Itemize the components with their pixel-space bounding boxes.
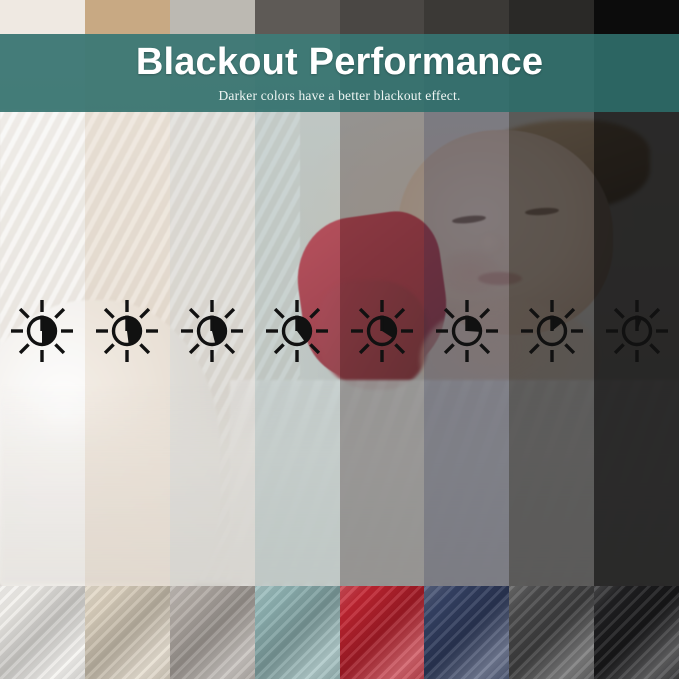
banner-title: Blackout Performance [136,43,543,81]
fabric-texture [594,586,679,679]
fabric-texture [170,586,255,679]
brightness-level-3 [170,286,255,376]
banner-subtitle: Darker colors have a better blackout eff… [218,88,460,104]
grey-fabric [170,586,255,679]
product-infographic: Blackout Performance Darker colors have … [0,0,679,679]
top-swatch-6 [424,0,509,34]
fabric-texture [255,586,340,679]
brightness-icon [604,298,670,364]
top-swatch-3 [170,0,255,34]
brightness-level-7 [509,286,594,376]
charcoal-fabric [509,586,594,679]
white-fabric [0,586,85,679]
banner: Blackout Performance Darker colors have … [0,34,679,112]
navy-fabric [424,586,509,679]
brightness-icon [94,298,160,364]
top-swatch-8 [594,0,679,34]
top-swatch-7 [509,0,594,34]
brightness-level-1 [0,286,85,376]
black-fabric [594,586,679,679]
brightness-icon-row [0,286,679,376]
fabric-texture [340,586,425,679]
fabric-texture [424,586,509,679]
brightness-level-5 [340,286,425,376]
fabric-texture [509,586,594,679]
red-fabric [340,586,425,679]
fabric-texture [85,586,170,679]
brightness-icon [519,298,585,364]
top-swatch-4 [255,0,340,34]
fabric-texture [0,586,85,679]
top-swatch-1 [0,0,85,34]
top-swatch-2 [85,0,170,34]
brightness-level-2 [85,286,170,376]
teal-fabric [255,586,340,679]
cream-fabric [85,586,170,679]
brightness-icon [349,298,415,364]
brightness-icon [434,298,500,364]
bottom-fabric-swatch-strip [0,586,679,679]
brightness-icon [264,298,330,364]
brightness-level-6 [424,286,509,376]
brightness-icon [179,298,245,364]
brightness-icon [9,298,75,364]
top-swatch-5 [340,0,425,34]
brightness-level-4 [255,286,340,376]
brightness-level-8 [594,286,679,376]
top-color-swatch-strip [0,0,679,34]
